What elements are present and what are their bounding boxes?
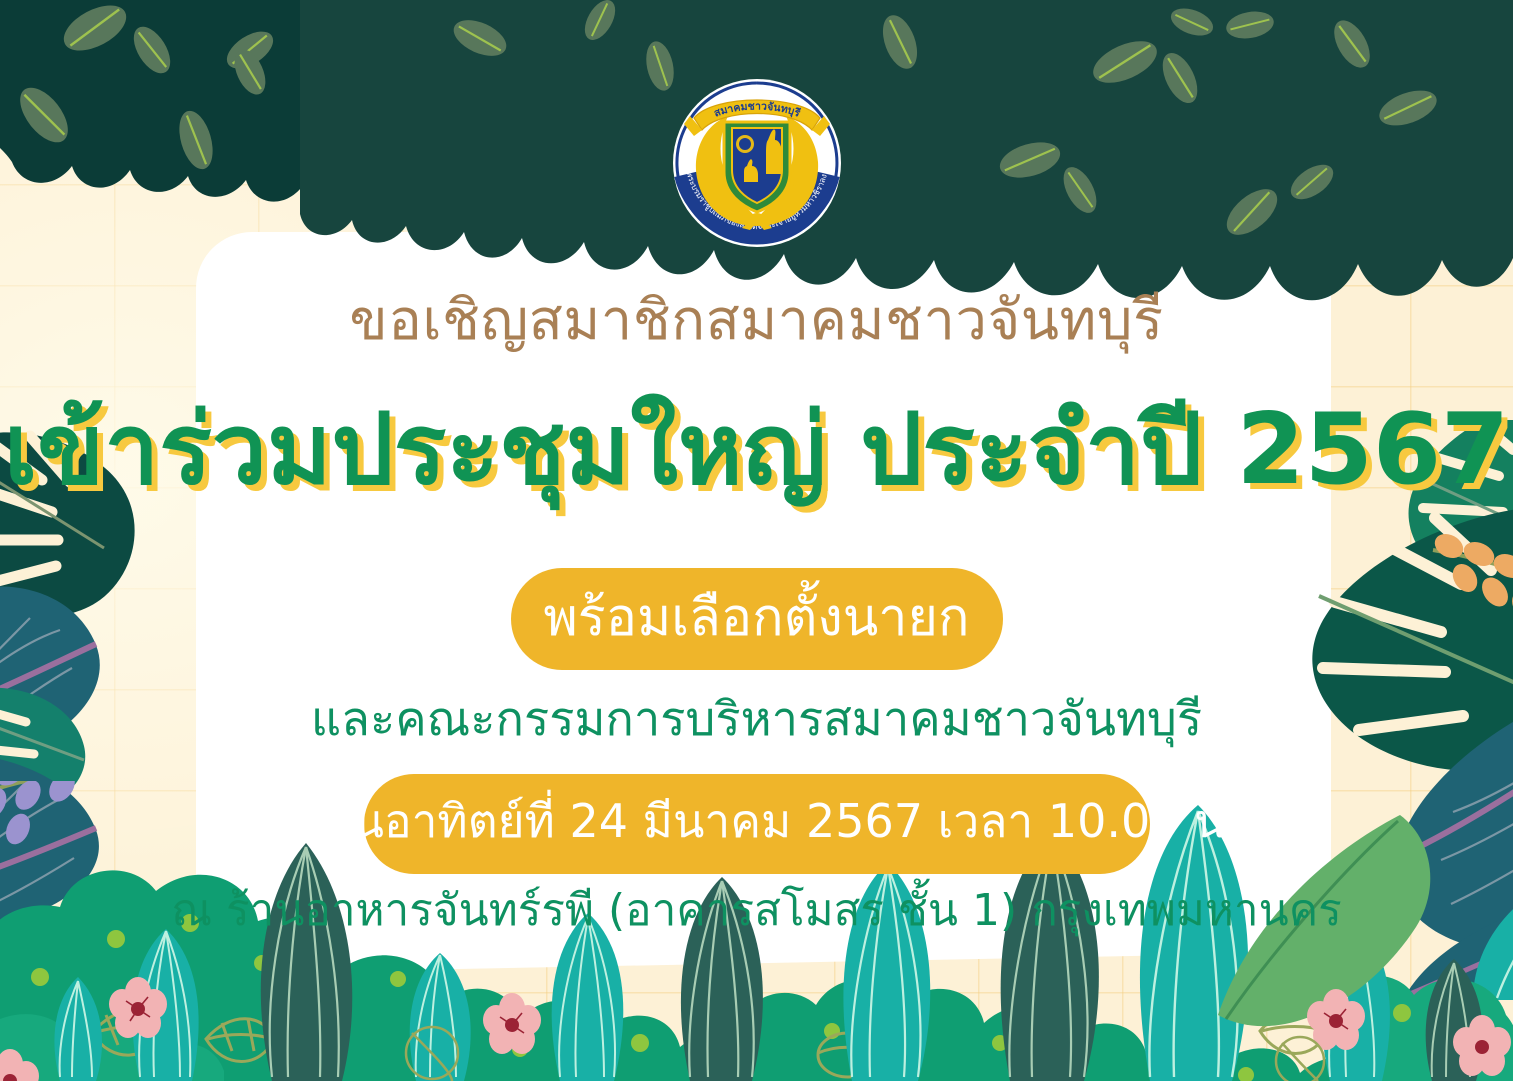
poster-content: โดยพระบรมราชูปถัมภ์ของสมเด็จพระเจ้าอยู่ห… [0,0,1513,1081]
datetime-badge: ในวันอาทิตย์ที่ 24 มีนาคม 2567 เวลา 10.0… [364,774,1150,874]
venue-line: ณ ร้านอาหารจันทร์รพี (อาคารสโมสร ชั้น 1)… [0,887,1513,935]
election-badge: พร้อมเลือกตั้งนายก [511,568,1003,670]
page-title: เข้าร่วมประชุมใหญ่ ประจำปี 2567 [0,398,1513,504]
association-emblem: โดยพระบรมราชูปถัมภ์ของสมเด็จพระเจ้าอยู่ห… [672,78,842,248]
emblem-svg: โดยพระบรมราชูปถัมภ์ของสมเด็จพระเจ้าอยู่ห… [672,78,842,248]
committee-line: และคณะกรรมการบริหารสมาคมชาวจันทบุรี [0,694,1513,746]
invitation-line: ขอเชิญสมาชิกสมาคมชาวจันทบุรี [0,292,1513,351]
poster-canvas: โดยพระบรมราชูปถัมภ์ของสมเด็จพระเจ้าอยู่ห… [0,0,1513,1081]
